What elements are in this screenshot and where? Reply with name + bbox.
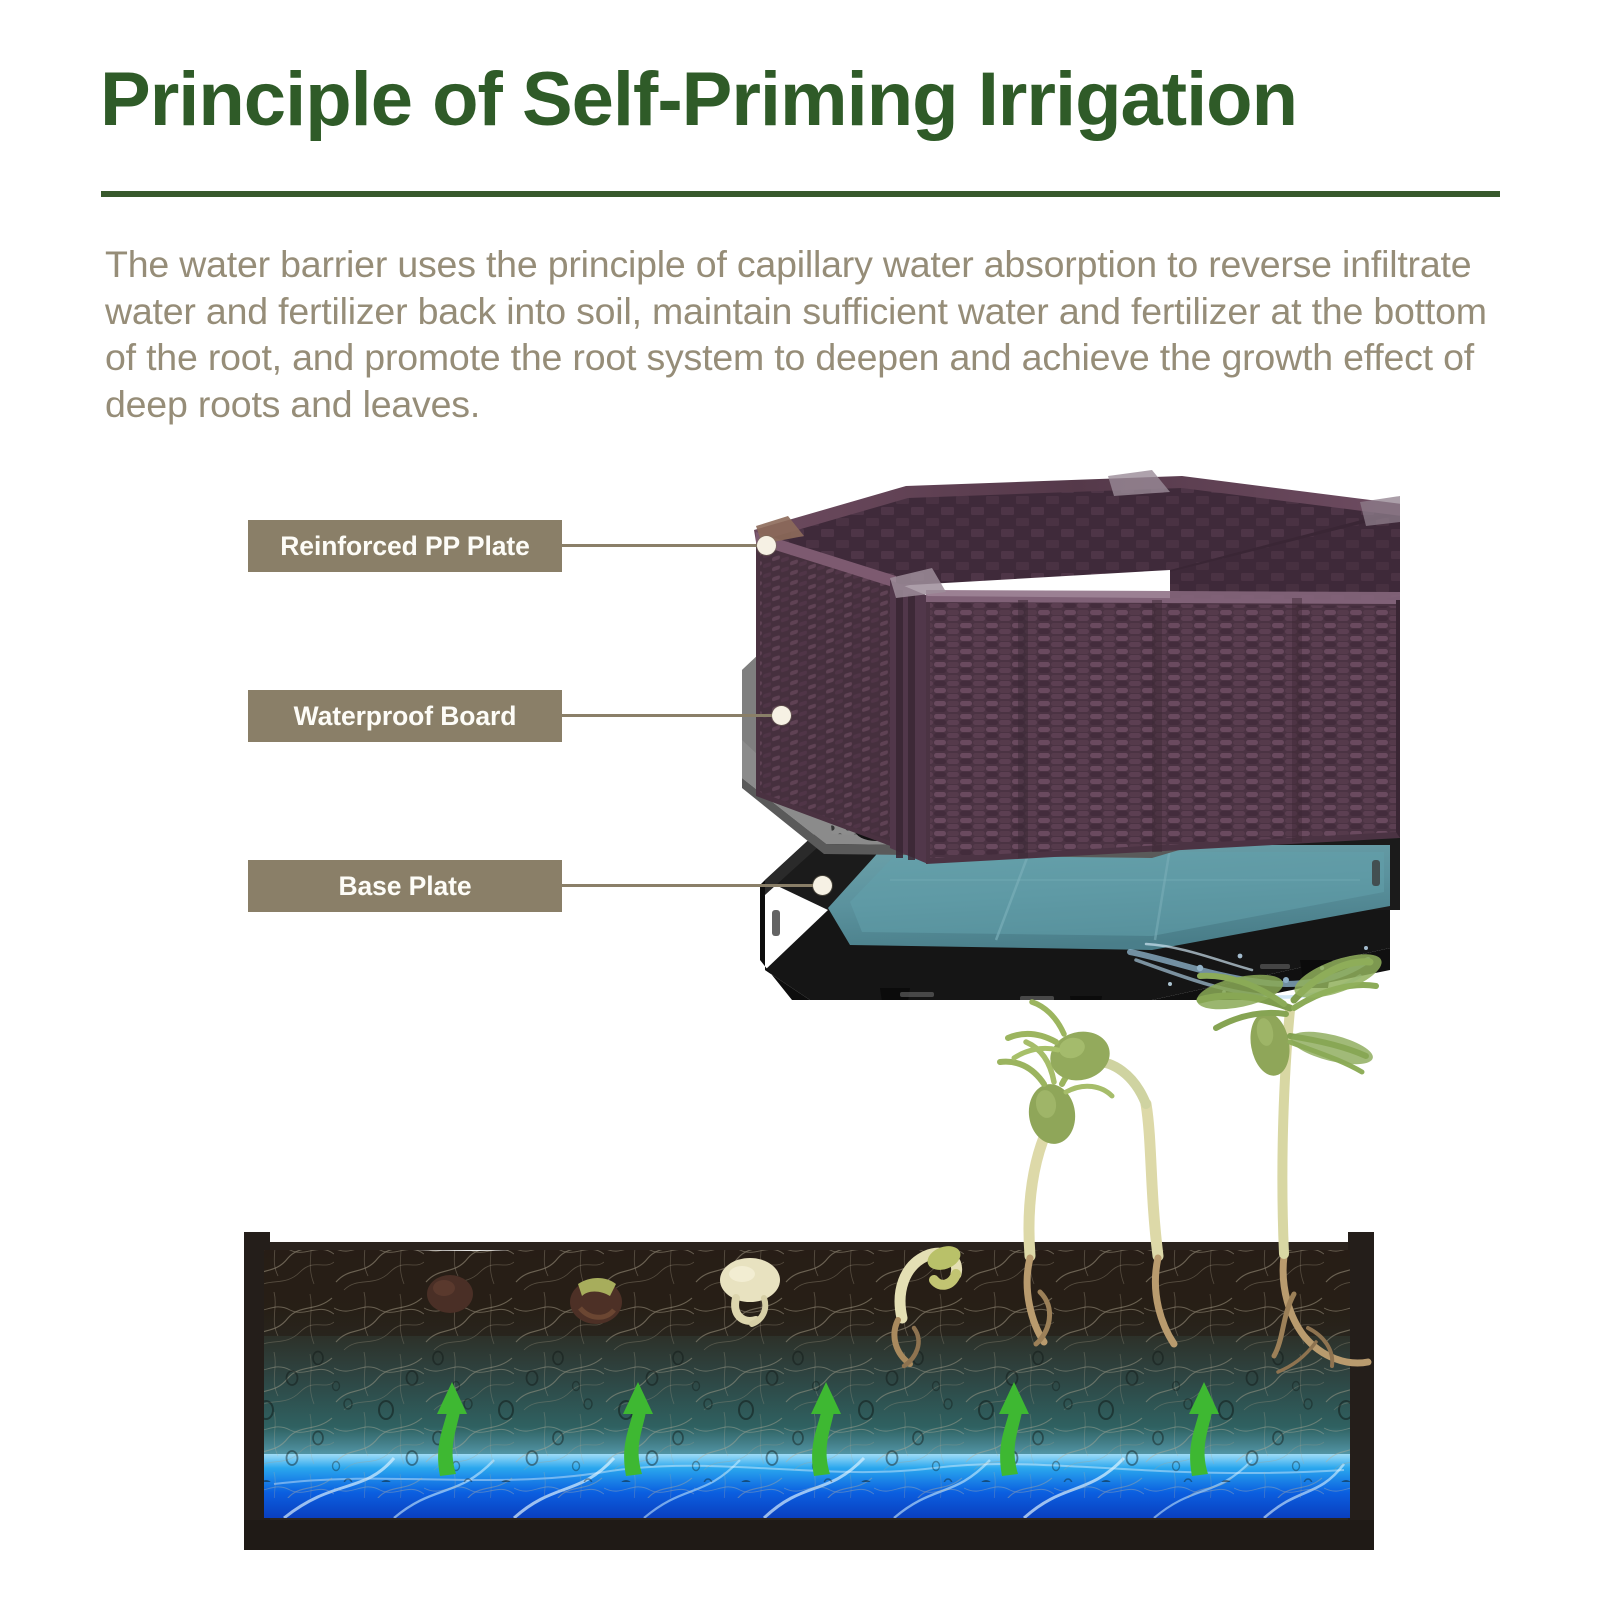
soil-cross-section	[244, 1232, 1374, 1550]
reinforced-pp-plate-layer	[754, 470, 1400, 864]
leaf-fan-lower-right	[1288, 1025, 1376, 1072]
callout-label-base-plate[interactable]: Base Plate	[248, 860, 562, 912]
leader-dot	[757, 536, 776, 555]
callout-label-waterproof-board[interactable]: Waterproof Board	[248, 690, 562, 742]
leader-dot	[813, 876, 832, 895]
exploded-assembly-diagram: Reinforced PP Plate Waterproof Board Bas…	[0, 440, 1600, 1010]
soil-body	[264, 1232, 1350, 1518]
leader-line	[562, 544, 769, 547]
leader-line	[562, 714, 784, 717]
planter-exploded-art	[700, 440, 1400, 1000]
growth-stage-buried-seed	[427, 1275, 473, 1313]
leader-dot	[772, 706, 791, 725]
planter-svg	[700, 440, 1400, 1000]
soil-cross-section-svg	[244, 1232, 1374, 1550]
leader-line	[562, 884, 825, 887]
page-title: Principle of Self-Priming Irrigation	[100, 60, 1520, 140]
intro-paragraph: The water barrier uses the principle of …	[105, 241, 1505, 427]
title-divider	[101, 191, 1500, 197]
callout-label-reinforced-pp-plate[interactable]: Reinforced PP Plate	[248, 520, 562, 572]
